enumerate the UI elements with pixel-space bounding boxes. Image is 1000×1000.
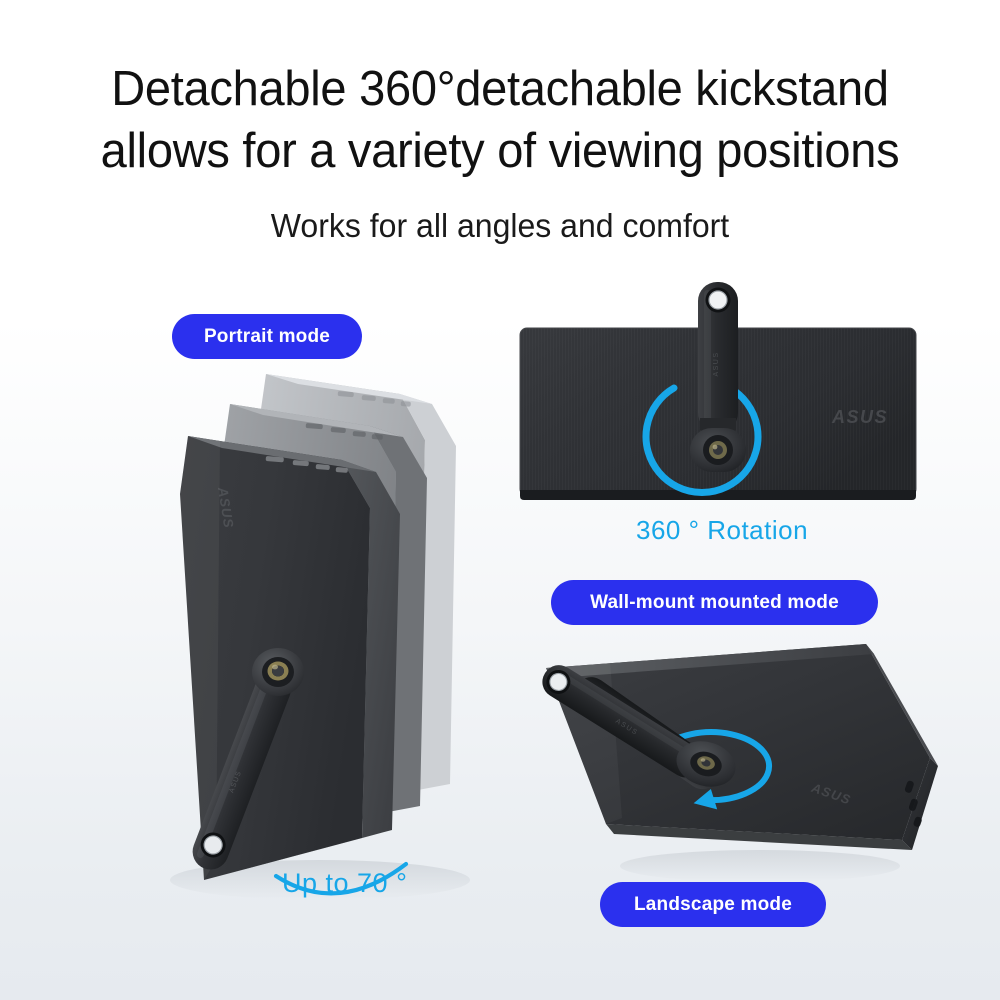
- tilt-angle-label: Up to 70 °: [282, 868, 407, 899]
- subtitle: Works for all angles and comfort: [15, 206, 985, 246]
- headline-line-1: Detachable 360°detachable kickstand: [20, 58, 980, 120]
- product-feature-graphic: Detachable 360°detachable kickstand allo…: [0, 0, 1000, 1000]
- kickstand-pivot-hub: [252, 648, 304, 696]
- portrait-mode-illustration: ASUS ASUS: [70, 360, 510, 920]
- svg-text:ASUS: ASUS: [713, 351, 720, 376]
- headline-block: Detachable 360°detachable kickstand allo…: [0, 58, 1000, 182]
- ground-shadow: [620, 850, 900, 882]
- badge-portrait-mode: Portrait mode: [172, 314, 362, 359]
- wall-pivot-hub: [690, 428, 746, 472]
- landscape-panel-body: ASUS: [546, 644, 938, 850]
- badge-landscape-mode: Landscape mode: [600, 882, 826, 927]
- kickstand-arm-wall: ASUS: [698, 282, 738, 436]
- landscape-mode-illustration: ASUS: [530, 628, 950, 893]
- asus-logo-wall: ASUS: [831, 407, 888, 427]
- rotation-label: 360 ° Rotation: [636, 515, 808, 546]
- headline-line-2: allows for a variety of viewing position…: [20, 120, 980, 182]
- badge-wall-mount-mode: Wall-mount mounted mode: [551, 580, 878, 625]
